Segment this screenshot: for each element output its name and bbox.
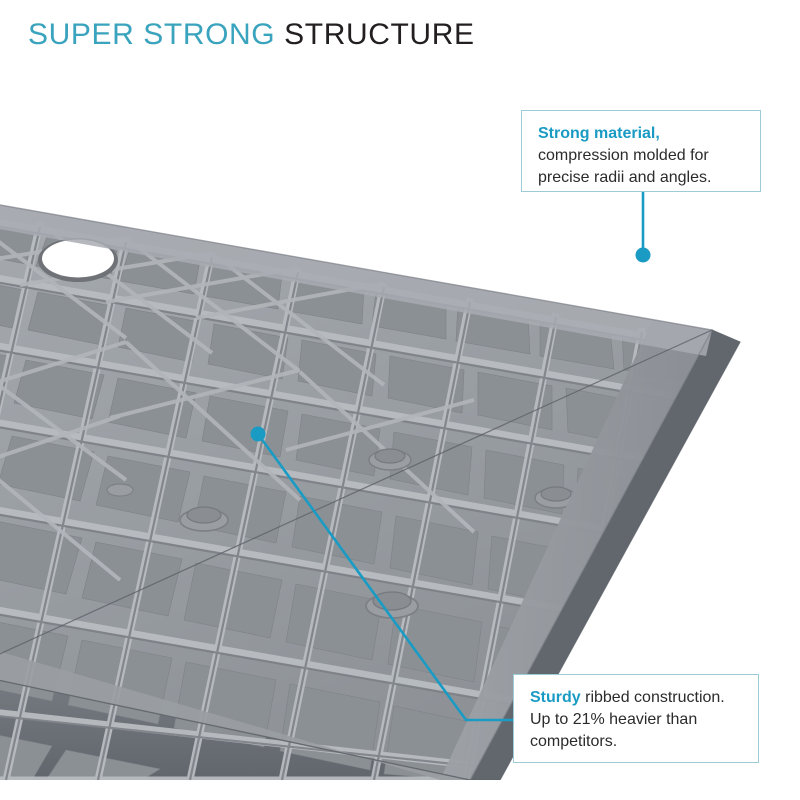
callout-strong-material: Strong material, compression molded for … xyxy=(521,110,761,192)
callout-sturdy-ribbed-lead: Sturdy xyxy=(530,689,581,706)
page-title-rest: STRUCTURE xyxy=(275,18,474,51)
page-title-accent: SUPER STRONG xyxy=(28,18,275,51)
callout-strong-material-lead: Strong material, xyxy=(538,125,660,142)
callout-sturdy-ribbed: Sturdy ribbed construction. Up to 21% he… xyxy=(513,674,759,763)
callout-strong-material-body: compression molded for precise radii and… xyxy=(538,147,711,186)
page-title: SUPER STRONG STRUCTURE xyxy=(28,18,475,52)
